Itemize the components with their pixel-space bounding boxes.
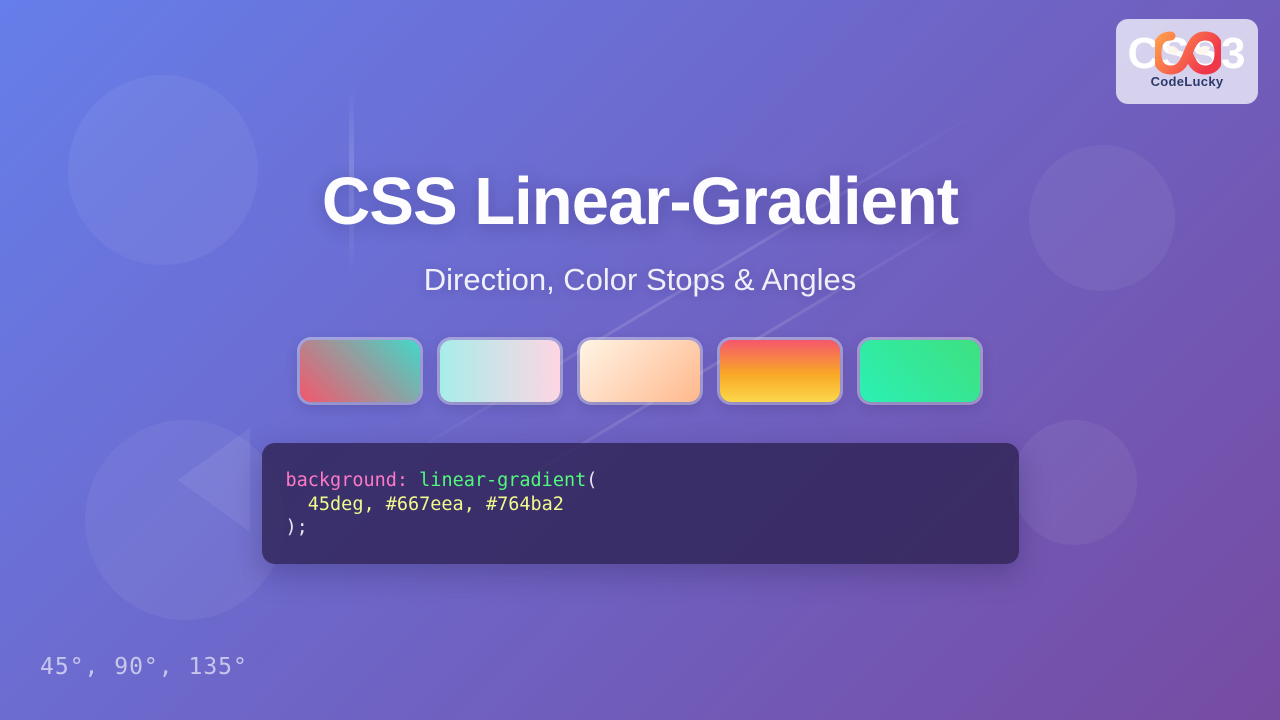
code-line-1: background: linear-gradient( bbox=[286, 469, 995, 493]
swatch-pink-yellow[interactable] bbox=[720, 340, 840, 402]
swatch-aqua-pink[interactable] bbox=[440, 340, 560, 402]
code-token-close-paren: ); bbox=[286, 517, 308, 538]
angles-caption: 45°, 90°, 135° bbox=[40, 654, 248, 680]
swatch-coral-teal[interactable] bbox=[300, 340, 420, 402]
code-token-property: background: bbox=[286, 470, 409, 491]
swatch-cream-peach[interactable] bbox=[580, 340, 700, 402]
code-token-values: 45deg, #667eea, #764ba2 bbox=[308, 494, 564, 515]
code-token-open-paren: ( bbox=[586, 470, 597, 491]
code-line-2: 45deg, #667eea, #764ba2 bbox=[286, 493, 995, 517]
slide-content: CSS Linear-Gradient Direction, Color Sto… bbox=[0, 0, 1280, 720]
swatch-green-mint[interactable] bbox=[860, 340, 980, 402]
code-token-function: linear-gradient bbox=[408, 470, 586, 491]
page-title: CSS Linear-Gradient bbox=[322, 163, 958, 240]
page-subtitle: Direction, Color Stops & Angles bbox=[424, 262, 857, 298]
gradient-swatch-row bbox=[300, 340, 980, 402]
code-snippet-block[interactable]: background: linear-gradient( 45deg, #667… bbox=[262, 443, 1019, 564]
code-line-3: ); bbox=[286, 516, 995, 540]
